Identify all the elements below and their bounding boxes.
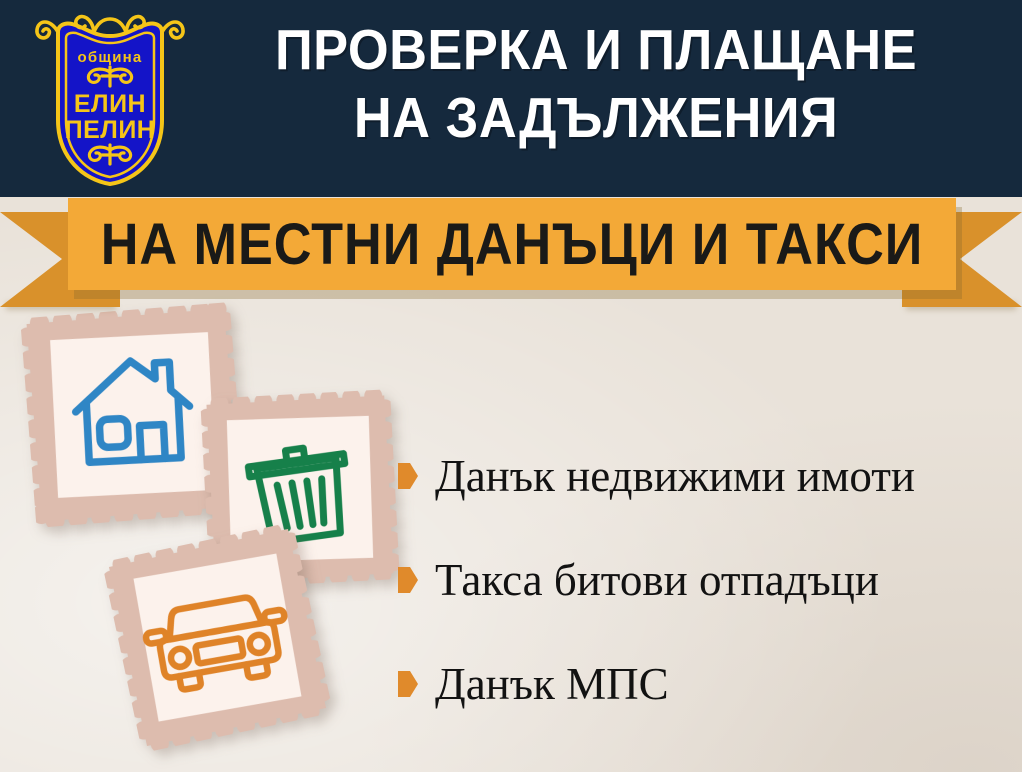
poster-canvas: ПРОВЕРКА И ПЛАЩАНЕ НА ЗАДЪЛЖЕНИЯ община …	[0, 0, 1022, 772]
list-item[interactable]: Данък недвижими имоти	[398, 424, 1008, 528]
list-item-label: Данък МПС	[435, 659, 669, 709]
svg-text:ЕЛИН: ЕЛИН	[74, 90, 146, 118]
page-title: ПРОВЕРКА И ПЛАЩАНЕ НА ЗАДЪЛЖЕНИЯ	[215, 16, 977, 152]
bullet-arrow-icon	[398, 463, 418, 489]
stamp-vehicle-tax	[102, 522, 333, 753]
list-item[interactable]: Такса битови отпадъци	[398, 528, 1008, 632]
bullet-arrow-icon	[398, 671, 418, 697]
list-item[interactable]: Данък МПС	[398, 632, 1008, 736]
ribbon-banner: НА МЕСТНИ ДАНЪЦИ И ТАКСИ	[0, 190, 1022, 320]
list-item-label: Данък недвижими имоти	[435, 451, 915, 501]
svg-text:ПЕЛИН: ПЕЛИН	[65, 116, 156, 144]
list-item-label: Такса битови отпадъци	[435, 555, 879, 605]
tax-type-list: Данък недвижими имоти Такса битови отпад…	[398, 424, 1008, 736]
municipality-emblem: община ЕЛИН ПЕЛИН	[32, 10, 188, 190]
ribbon-panel: НА МЕСТНИ ДАНЪЦИ И ТАКСИ	[68, 198, 956, 290]
ribbon-label: НА МЕСТНИ ДАНЪЦИ И ТАКСИ	[90, 195, 934, 293]
bullet-arrow-icon	[398, 567, 418, 593]
svg-text:община: община	[78, 49, 143, 66]
